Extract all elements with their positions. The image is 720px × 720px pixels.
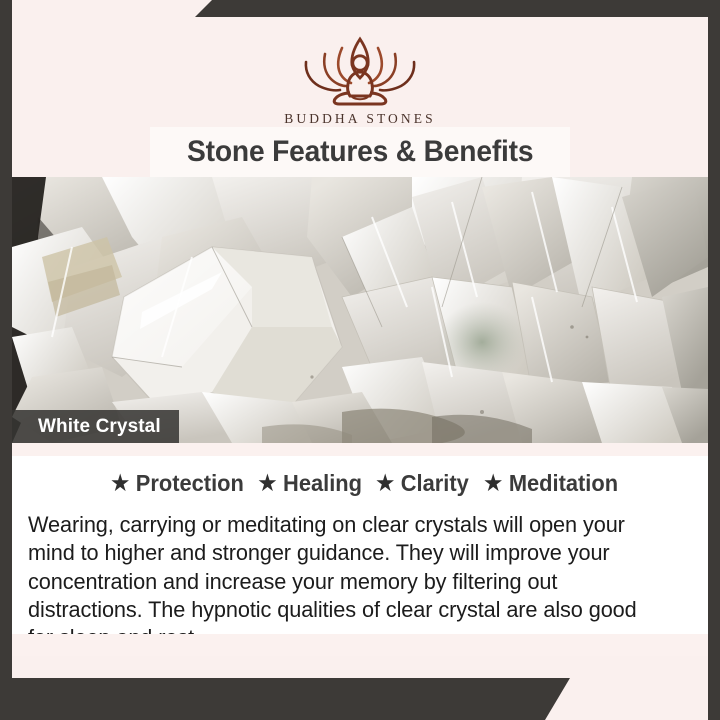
brand-name: BUDDHA STONES (284, 111, 435, 127)
content-area: ★ Protection ★ Healing ★ Clarity ★ Medit… (12, 456, 708, 656)
benefit-item: ★ Meditation (475, 470, 617, 497)
photo-caption-bar: White Crystal (12, 410, 179, 443)
title-panel: Stone Features & Benefits (150, 127, 570, 177)
frame-right-bar (708, 17, 720, 720)
benefit-label: Meditation (508, 470, 617, 497)
frame-left-bar (0, 0, 12, 678)
crystal-photo-art (12, 177, 708, 443)
frame-top-bar (195, 0, 720, 17)
benefit-item: ★ Protection (102, 470, 243, 497)
photo-caption-text: White Crystal (38, 416, 161, 438)
description-text: Wearing, carrying or meditating on clear… (28, 511, 667, 653)
photo-content-divider (12, 443, 708, 456)
benefit-label: Clarity (401, 470, 469, 497)
lotus-meditation-figure-icon (276, 31, 444, 107)
benefit-label: Healing (283, 470, 362, 497)
benefits-row: ★ Protection ★ Healing ★ Clarity ★ Medit… (12, 470, 708, 497)
benefit-item: ★ Healing (250, 470, 362, 497)
brand-logo: BUDDHA STONES (12, 31, 708, 127)
benefit-label: Protection (135, 470, 243, 497)
crystal-photo: White Crystal (12, 177, 708, 443)
bottom-cream-strip (12, 634, 708, 656)
frame-bottom-bar (0, 678, 570, 720)
stone-info-card: BUDDHA STONES Stone Features & Benefits (0, 0, 720, 720)
star-icon: ★ (484, 473, 502, 494)
benefit-item: ★ Clarity (368, 470, 469, 497)
star-icon: ★ (259, 473, 277, 494)
star-icon: ★ (376, 473, 394, 494)
page-title: Stone Features & Benefits (187, 135, 533, 169)
card-page: BUDDHA STONES Stone Features & Benefits (12, 17, 708, 678)
star-icon: ★ (111, 473, 129, 494)
